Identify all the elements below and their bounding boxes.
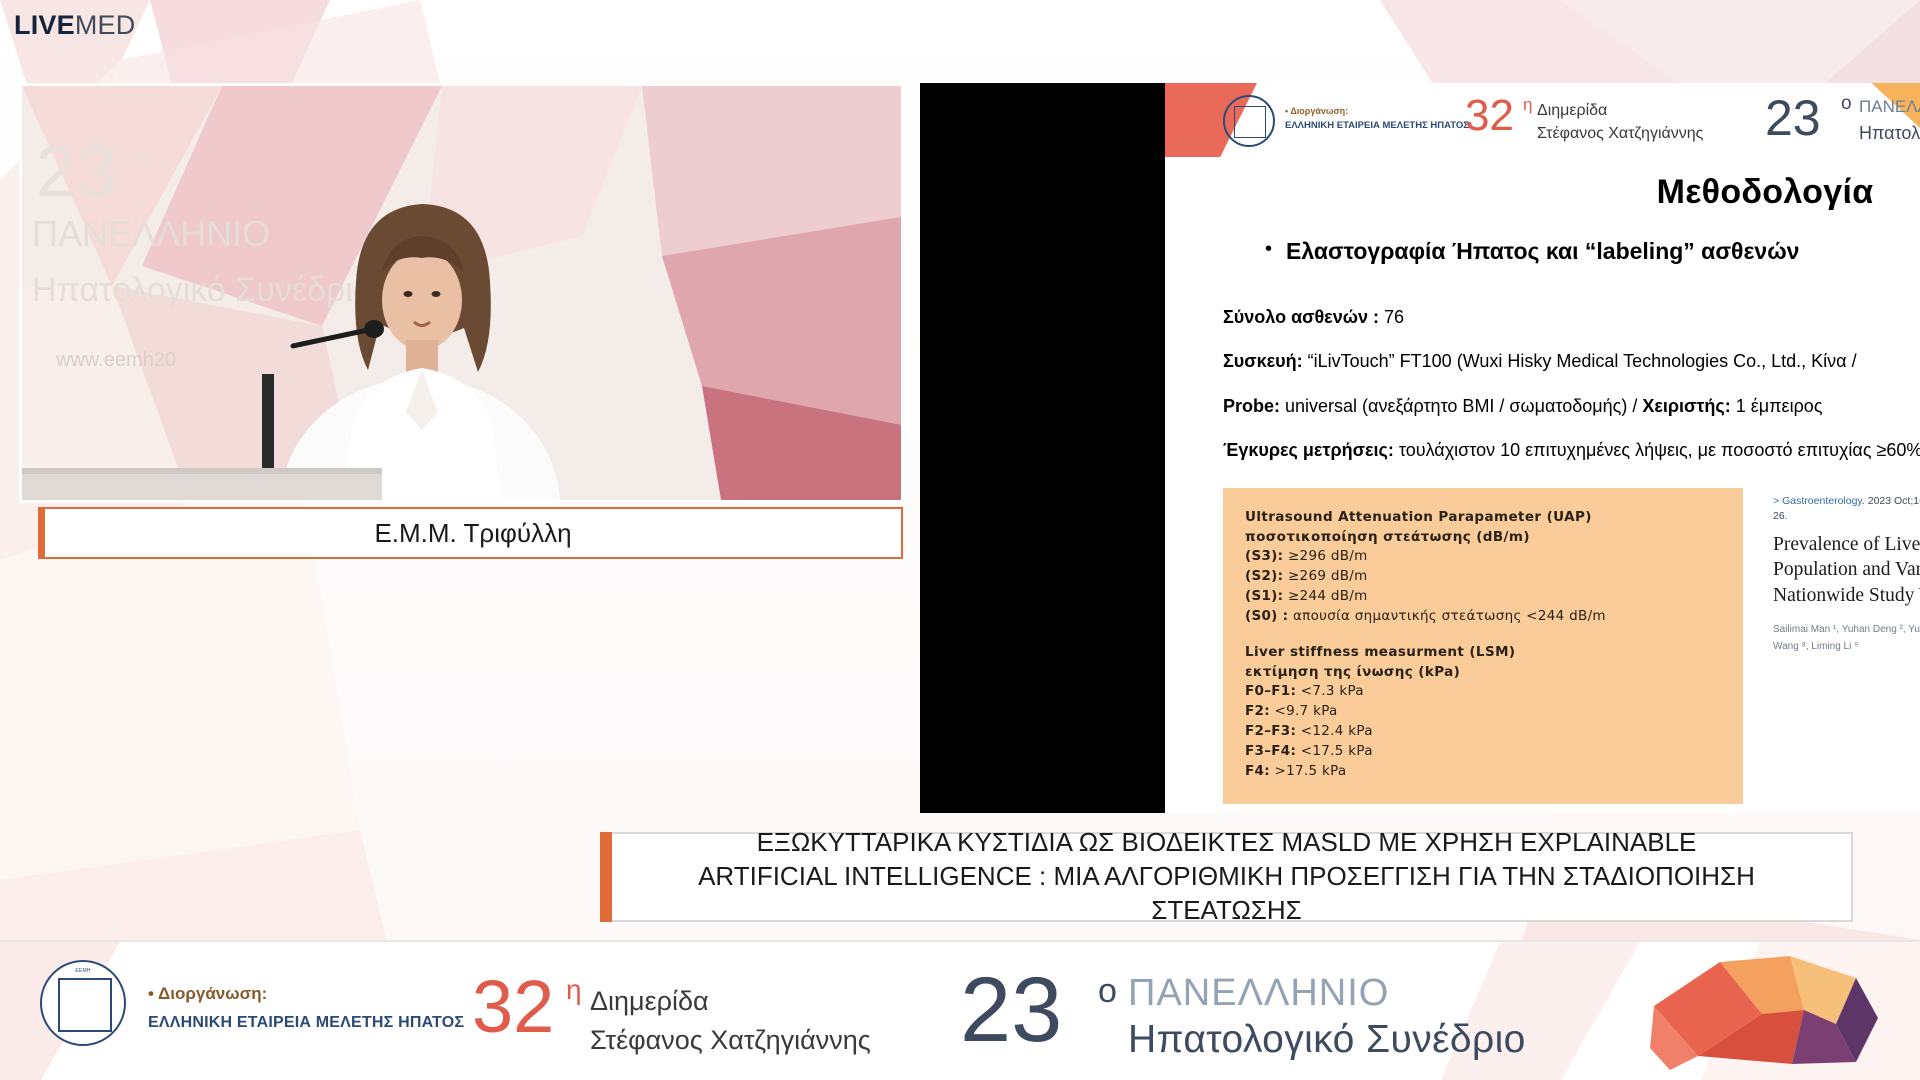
uap-val-s0: απουσία σημαντικής στεάτωσης <244 dB/m <box>1288 608 1606 624</box>
citation-authors: Sailimai Man ¹, Yuhan Deng ², Yuan Ma ³,… <box>1773 621 1920 656</box>
lsm-row-f0f1: F0–F1: <7.3 kPa <box>1245 682 1721 702</box>
logo-med-text: MED <box>75 10 136 40</box>
slide-bullet-text: Ελαστογραφία Ήπατος και “labeling” ασθεν… <box>1286 238 1799 265</box>
uap-val-s1: ≥244 dB/m <box>1283 588 1367 604</box>
uap-key-s2: (S2): <box>1245 568 1283 584</box>
citation-article-title: Prevalence of Liver Steatosis and Fibros… <box>1773 532 1920 609</box>
lsm-row-f3f4: F3–F4: <17.5 kPa <box>1245 742 1721 762</box>
spec-label-operator: Χειριστής: <box>1642 396 1730 416</box>
uap-val-s2: ≥269 dB/m <box>1283 568 1367 584</box>
speaker-name-text: Ε.Μ.Μ. Τριφύλλη <box>374 518 571 549</box>
spec-label-device: Συσκευή: <box>1223 351 1303 371</box>
svg-text:o: o <box>134 142 148 172</box>
lsm-val-f2: <9.7 kPa <box>1270 703 1338 719</box>
talk-title-text: ΕΞΩΚΥΤΤΑΡΙΚΑ ΚΥΣΤΙΔΙΑ ΩΣ ΒΙΟΔΕΙΚΤΕΣ MASL… <box>602 826 1851 927</box>
uap-box-spacer <box>1245 627 1721 643</box>
lsm-val-f2f3: <12.4 kPa <box>1296 723 1373 739</box>
footer-eemh-logo-icon: ΕΕΜΗ <box>40 960 126 1046</box>
slide-organizer-block: • Διοργάνωση: ΕΛΛΗΝΙΚΗ ΕΤΑΙΡΕΙΑ ΜΕΛΕΤΗΣ … <box>1285 105 1469 133</box>
spec-row-probe: Probe: universal (ανεξάρτητο BMI / σωματ… <box>1223 394 1920 418</box>
lsm-key-f3f4: F3–F4: <box>1245 743 1296 759</box>
spec-row-valid-measurements: Έγκυρες μετρήσεις: τουλάχιστον 10 επιτυχ… <box>1223 438 1920 462</box>
slide-23-number: 23 <box>1765 89 1821 147</box>
spec-label-probe: Probe: <box>1223 396 1280 416</box>
slide-32-line2: Στέφανος Χατζηγιάννης <box>1537 122 1703 145</box>
uap-heading-line2: ποσοτικοποίηση στεάτωσης (dB/m) <box>1245 528 1721 548</box>
footer-23-text: ΠΑΝΕΛΛΗΝΙΟ Ηπατολογικό Συνέδριο <box>1128 970 1526 1064</box>
uap-row-s1: (S1): ≥244 dB/m <box>1245 587 1721 607</box>
footer-32-superscript: η <box>566 974 582 1006</box>
speaker-nameplate: Ε.Μ.Μ. Τριφύλλη <box>43 507 903 559</box>
footer-23-line1: ΠΑΝΕΛΛΗΝΙΟ <box>1128 970 1526 1016</box>
lsm-row-f2f3: F2–F3: <12.4 kPa <box>1245 722 1721 742</box>
spec-label-valid-measurements: Έγκυρες μετρήσεις: <box>1223 440 1394 460</box>
footer-23-number: 23 <box>960 964 1062 1056</box>
spec-row-total-patients: Σύνολο ασθενών : 76 <box>1223 305 1920 329</box>
slide-lower-columns: Ultrasound Attenuation Parapameter (UAP)… <box>1205 488 1920 804</box>
talk-banner-accent-bar <box>600 832 612 922</box>
footer-eemh-mark-text: ΕΕΜΗ <box>42 968 124 974</box>
uap-key-s3: (S3): <box>1245 548 1283 564</box>
uap-row-s3: (S3): ≥296 dB/m <box>1245 547 1721 567</box>
lsm-val-f3f4: <17.5 kPa <box>1296 743 1373 759</box>
lsm-key-f0f1: F0–F1: <box>1245 683 1296 699</box>
talk-title-line1: ΕΞΩΚΥΤΤΑΡΙΚΑ ΚΥΣΤΙΔΙΑ ΩΣ ΒΙΟΔΕΙΚΤΕΣ MASL… <box>628 826 1825 860</box>
slide-32-line1: Διημερίδα <box>1537 99 1703 122</box>
slide-page: • Διοργάνωση: ΕΛΛΗΝΙΚΗ ΕΤΑΙΡΕΙΑ ΜΕΛΕΤΗΣ … <box>1165 83 1920 813</box>
lsm-heading-line1: Liver stiffness measurment (LSM) <box>1245 643 1721 663</box>
slide-32-superscript: η <box>1523 95 1532 115</box>
svg-text:Ηπατολογικό Συνέδριο: Ηπατολογικό Συνέδριο <box>32 271 372 309</box>
spec-value-operator: 1 έμπειρος <box>1731 396 1823 416</box>
slide-23-line1: ΠΑΝΕΛΛΗΝΙΟ <box>1859 94 1920 120</box>
svg-text:www.eemh20: www.eemh20 <box>55 349 176 371</box>
slide-23-superscript: ο <box>1841 93 1852 115</box>
spec-value-probe: universal (ανεξάρτητο BMI / σωματοδομής)… <box>1280 396 1642 416</box>
slide-title: Μεθοδολογία <box>1205 173 1920 212</box>
footer-23-line2: Ηπατολογικό Συνέδριο <box>1128 1016 1526 1064</box>
slide-letterbox: • Διοργάνωση: ΕΛΛΗΝΙΚΗ ΕΤΑΙΡΕΙΑ ΜΕΛΕΤΗΣ … <box>920 83 1920 813</box>
svg-text:23: 23 <box>36 132 116 212</box>
lsm-val-f4: >17.5 kPa <box>1270 763 1347 779</box>
slide-23-line2: Ηπατολογικό Συνέδριο <box>1859 120 1920 147</box>
uap-key-s0: (S0) : <box>1245 608 1288 624</box>
spec-label-total-patients: Σύνολο ασθενών : <box>1223 307 1379 327</box>
uap-row-s0: (S0) : απουσία σημαντικής στεάτωσης <244… <box>1245 607 1721 627</box>
spec-row-device: Συσκευή: “iLivTouch” FT100 (Wuxi Hisky M… <box>1223 349 1920 373</box>
livemed-logo: LIVEMED <box>14 12 135 39</box>
bullet-dot-icon: • <box>1265 238 1272 260</box>
slide-header-band: • Διοργάνωση: ΕΛΛΗΝΙΚΗ ΕΤΑΙΡΕΙΑ ΜΕΛΕΤΗΣ … <box>1165 83 1920 161</box>
spec-value-device: “iLivTouch” FT100 (Wuxi Hisky Medical Te… <box>1303 351 1857 371</box>
footer-liver-illustration-icon <box>1650 952 1880 1072</box>
footer-32-line2: Στέφανος Χατζηγιάννης <box>590 1021 871 1060</box>
slide-body: Μεθοδολογία • Ελαστογραφία Ήπατος και “l… <box>1165 173 1920 804</box>
speaker-video-thumbnail[interactable]: 23 o ΠΑΝΕΛΛΗΝΙΟ Ηπατολογικό Συνέδριο www… <box>19 83 904 503</box>
lsm-key-f2f3: F2–F3: <box>1245 723 1296 739</box>
talk-title-line2: ARTIFICIAL INTELLIGENCE : ΜΙΑ ΑΛΓΟΡΙΘΜΙΚ… <box>628 860 1825 928</box>
slide-stage[interactable]: • Διοργάνωση: ΕΛΛΗΝΙΚΗ ΕΤΑΙΡΕΙΑ ΜΕΛΕΤΗΣ … <box>920 83 1920 813</box>
chevron-right-icon: > <box>1773 495 1779 507</box>
citation-journal-line: >Gastroenterology. 2023 Oct;165(4):1025-… <box>1773 494 1920 523</box>
footer-organizer-block: • Διοργάνωση: ΕΛΛΗΝΙΚΗ ΕΤΑΙΡΕΙΑ ΜΕΛΕΤΗΣ … <box>148 980 464 1036</box>
uap-lsm-reference-box: Ultrasound Attenuation Parapameter (UAP)… <box>1223 488 1743 804</box>
uap-row-s2: (S2): ≥269 dB/m <box>1245 567 1721 587</box>
citation-column: >Gastroenterology. 2023 Oct;165(4):1025-… <box>1773 488 1920 804</box>
uap-val-s3: ≥296 dB/m <box>1283 548 1367 564</box>
talk-title-banner: ΕΞΩΚΥΤΤΑΡΙΚΑ ΚΥΣΤΙΔΙΑ ΩΣ ΒΙΟΔΕΙΚΤΕΣ MASL… <box>600 832 1853 922</box>
uap-key-s1: (S1): <box>1245 588 1283 604</box>
slide-organizer-label: • Διοργάνωση: <box>1285 105 1469 119</box>
svg-text:ΠΑΝΕΛΛΗΝΙΟ: ΠΑΝΕΛΛΗΝΙΟ <box>32 213 270 254</box>
speaker-panel: 23 o ΠΑΝΕΛΛΗΝΙΟ Ηπατολογικό Συνέδριο www… <box>19 83 904 581</box>
footer-organizer-name: ΕΛΛΗΝΙΚΗ ΕΤΑΙΡΕΙΑ ΜΕΛΕΤΗΣ ΗΠΑΤΟΣ <box>148 1009 464 1036</box>
footer-32-line1: Διημερίδα <box>590 982 871 1021</box>
lsm-row-f4: F4: >17.5 kPa <box>1245 762 1721 782</box>
slide-32-text: Διημερίδα Στέφανος Χατζηγιάννης <box>1537 99 1703 145</box>
spec-value-total-patients: 76 <box>1379 307 1404 327</box>
slide-bullet-row: • Ελαστογραφία Ήπατος και “labeling” ασθ… <box>1265 238 1920 265</box>
slide-23-text: ΠΑΝΕΛΛΗΝΙΟ Ηπατολογικό Συνέδριο <box>1859 94 1920 147</box>
slide-32-number: 32 <box>1465 91 1514 141</box>
lsm-heading-line2: εκτίμηση της ίνωσης (kPa) <box>1245 663 1721 683</box>
logo-live-text: LIVE <box>14 10 75 40</box>
lsm-row-f2: F2: <9.7 kPa <box>1245 702 1721 722</box>
citation-journal-name: Gastroenterology <box>1782 495 1862 507</box>
eemh-logo-icon <box>1223 95 1275 147</box>
footer-32-text: Διημερίδα Στέφανος Χατζηγιάννης <box>590 982 871 1060</box>
lsm-val-f0f1: <7.3 kPa <box>1296 683 1364 699</box>
speaker-video-image: 23 o ΠΑΝΕΛΛΗΝΙΟ Ηπατολογικό Συνέδριο www… <box>22 86 904 503</box>
footer-23-superscript: ο <box>1098 972 1117 1011</box>
lsm-key-f2: F2: <box>1245 703 1270 719</box>
uap-heading-line1: Ultrasound Attenuation Parapameter (UAP) <box>1245 508 1721 528</box>
spec-value-valid-measurements: τουλάχιστον 10 επιτυχημένες λήψεις, με π… <box>1394 440 1920 460</box>
slide-organizer-name: ΕΛΛΗΝΙΚΗ ΕΤΑΙΡΕΙΑ ΜΕΛΕΤΗΣ ΗΠΑΤΟΣ <box>1285 119 1469 133</box>
lsm-key-f4: F4: <box>1245 763 1270 779</box>
footer-organizer-label: • Διοργάνωση: <box>148 980 464 1009</box>
footer-32-number: 32 <box>472 970 554 1044</box>
conference-footer-bar: ΕΕΜΗ • Διοργάνωση: ΕΛΛΗΝΙΚΗ ΕΤΑΙΡΕΙΑ ΜΕΛ… <box>0 940 1920 1080</box>
